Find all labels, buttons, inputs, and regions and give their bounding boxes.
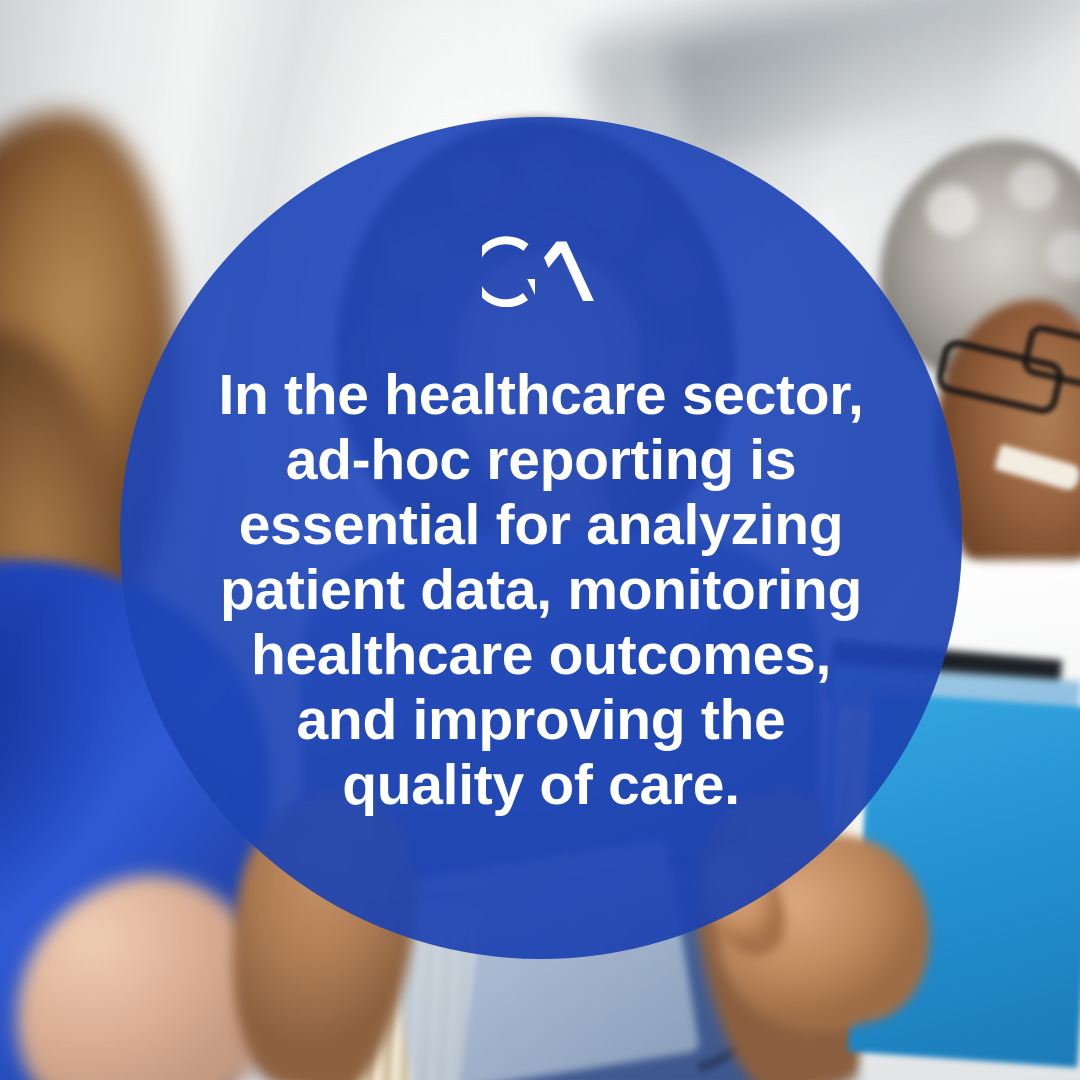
quote-line-1: In the healthcare sector, [191, 363, 891, 428]
quote-line-5: healthcare outcomes, [191, 623, 891, 688]
quote-line-3: essential for analyzing [191, 493, 891, 558]
ca-monogram-logo [482, 235, 600, 307]
overlay-content: In the healthcare sector, ad-hoc reporti… [120, 117, 962, 959]
quote-line-7: quality of care. [191, 753, 891, 818]
quote-line-4: patient data, monitoring [191, 558, 891, 623]
quote-line-6: and improving the [191, 688, 891, 753]
quote-text: In the healthcare sector, ad-hoc reporti… [191, 363, 891, 818]
quote-card-canvas: In the healthcare sector, ad-hoc reporti… [0, 0, 1080, 1080]
quote-line-2: ad-hoc reporting is [191, 428, 891, 493]
